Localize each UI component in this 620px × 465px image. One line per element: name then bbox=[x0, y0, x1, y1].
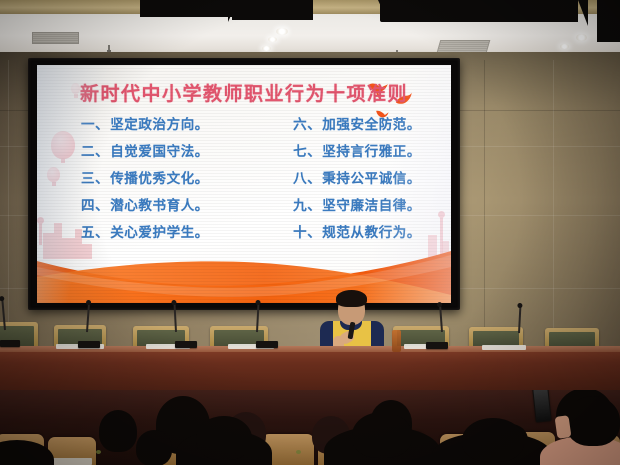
wave-graphic bbox=[37, 247, 451, 303]
conference-hall-photo: 新时代中小学教师职业行为十项准则 一、坚定政治方向。 二、自觉爱国守法。 三、传… bbox=[0, 0, 620, 465]
audience-hand bbox=[555, 415, 572, 439]
list-item-number: 三、 bbox=[81, 171, 109, 187]
ceiling-downlight bbox=[268, 37, 277, 42]
hot-air-balloon-icon bbox=[51, 131, 75, 159]
audience-phone bbox=[532, 390, 551, 423]
city-skyline-silhouette bbox=[39, 223, 42, 245]
list-item-number: 七、 bbox=[293, 144, 321, 160]
list-item-text: 加强安全防范。 bbox=[322, 117, 421, 133]
audience-head bbox=[99, 410, 137, 452]
slide-body: 一、坚定政治方向。 二、自觉爱国守法。 三、传播优秀文化。 四、潜心教书育人。 … bbox=[81, 113, 421, 241]
ceiling-panel bbox=[232, 0, 313, 20]
water-bottle bbox=[392, 330, 401, 352]
slide-title: 新时代中小学教师职业行为十项准则 bbox=[37, 79, 451, 106]
list-item-number: 五、 bbox=[81, 225, 109, 241]
ceiling-downlight bbox=[276, 28, 288, 35]
list-item-text: 规范从教行为。 bbox=[322, 225, 421, 241]
ceiling-downlight bbox=[262, 46, 271, 51]
list-item: 七、坚持言行雅正。 bbox=[293, 140, 421, 160]
slide-column-right: 六、加强安全防范。 七、坚持言行雅正。 八、秉持公平诚信。 九、坚守廉洁自律。 … bbox=[293, 113, 421, 241]
list-item-number: 六、 bbox=[293, 117, 321, 133]
presenter-hair bbox=[336, 290, 367, 307]
wall-seam bbox=[553, 60, 554, 350]
audience-head bbox=[462, 418, 524, 462]
list-item: 十、规范从教行为。 bbox=[293, 221, 421, 241]
table-device bbox=[426, 342, 448, 349]
ceiling bbox=[0, 0, 620, 58]
seat-badge bbox=[96, 450, 101, 454]
ceiling-panel bbox=[597, 0, 620, 42]
ceiling-vent bbox=[32, 32, 79, 44]
list-item-number: 四、 bbox=[81, 198, 109, 214]
list-item-text: 自觉爱国守法。 bbox=[110, 144, 209, 160]
wall-seam bbox=[8, 60, 9, 350]
wall-seam bbox=[484, 60, 485, 350]
ceiling-panel bbox=[380, 0, 578, 22]
seat-badge bbox=[296, 450, 301, 454]
orange-ribbon-wave bbox=[37, 247, 451, 303]
table-device bbox=[0, 340, 20, 347]
list-item-text: 传播优秀文化。 bbox=[110, 171, 209, 187]
list-item-text: 潜心教书育人。 bbox=[110, 198, 209, 214]
list-item: 四、潜心教书育人。 bbox=[81, 194, 209, 214]
audience-head bbox=[352, 412, 412, 458]
audience-head bbox=[136, 430, 172, 465]
table-device bbox=[175, 341, 197, 348]
audience-paper bbox=[50, 458, 92, 465]
list-item: 八、秉持公平诚信。 bbox=[293, 167, 421, 187]
list-item: 五、关心爱护学生。 bbox=[81, 221, 209, 241]
audience-head bbox=[566, 396, 620, 446]
hot-air-balloon-icon bbox=[47, 167, 60, 182]
table-device bbox=[78, 341, 100, 348]
list-item-text: 坚定政治方向。 bbox=[110, 117, 209, 133]
ceiling-downlight bbox=[560, 44, 569, 49]
list-item: 六、加强安全防范。 bbox=[293, 113, 421, 133]
list-item: 二、自觉爱国守法。 bbox=[81, 140, 209, 160]
list-item-text: 秉持公平诚信。 bbox=[322, 171, 421, 187]
list-item-number: 十、 bbox=[293, 225, 321, 241]
sprinkler-head bbox=[108, 45, 110, 51]
list-item-text: 关心爱护学生。 bbox=[110, 225, 209, 241]
list-item-number: 八、 bbox=[293, 171, 321, 187]
audience-head bbox=[196, 416, 252, 460]
list-item: 九、坚守廉洁自律。 bbox=[293, 194, 421, 214]
table-papers bbox=[482, 345, 526, 350]
audience-area bbox=[0, 390, 620, 465]
list-item-text: 坚持言行雅正。 bbox=[322, 144, 421, 160]
slide-column-left: 一、坚定政治方向。 二、自觉爱国守法。 三、传播优秀文化。 四、潜心教书育人。 … bbox=[81, 113, 209, 241]
led-screen: 新时代中小学教师职业行为十项准则 一、坚定政治方向。 二、自觉爱国守法。 三、传… bbox=[28, 58, 460, 310]
table-device bbox=[256, 341, 278, 348]
list-item-number: 二、 bbox=[81, 144, 109, 160]
list-item-number: 九、 bbox=[293, 198, 321, 214]
list-item: 一、坚定政治方向。 bbox=[81, 113, 209, 133]
list-item-number: 一、 bbox=[81, 117, 109, 133]
ceiling-downlight bbox=[576, 34, 587, 41]
presentation-slide: 新时代中小学教师职业行为十项准则 一、坚定政治方向。 二、自觉爱国守法。 三、传… bbox=[37, 65, 451, 303]
list-item: 三、传播优秀文化。 bbox=[81, 167, 209, 187]
ceiling-panel-wedge bbox=[578, 0, 588, 26]
list-item-text: 坚守廉洁自律。 bbox=[322, 198, 421, 214]
